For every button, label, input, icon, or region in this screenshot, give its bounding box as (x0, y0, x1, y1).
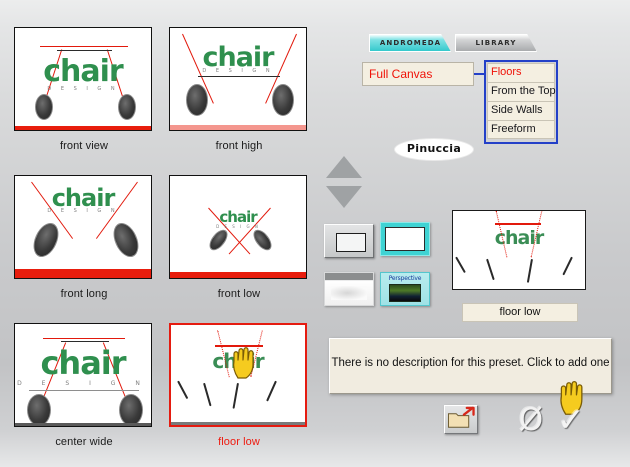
description-panel[interactable]: There is no description for this preset.… (329, 338, 612, 394)
menu-item-side-walls[interactable]: Side Walls (487, 101, 555, 120)
preset-item-front-low[interactable]: chair D E S I G N front low (169, 175, 309, 300)
preset-label: front view (14, 140, 154, 152)
spinner-down-icon[interactable] (326, 186, 362, 208)
menu-item-freeform[interactable]: Freeform (487, 120, 555, 139)
view-mode-perspective[interactable]: Perspective (380, 272, 430, 306)
spinner-up-icon[interactable] (326, 156, 362, 178)
artwork-subhead: D E S I G N (15, 208, 151, 214)
preset-thumbnail[interactable]: chair D E S I G N (14, 175, 152, 279)
perspective-scene: chair D E S I G N (15, 176, 151, 278)
folder-export-icon (445, 406, 477, 433)
artwork-subhead: D E S I G N (170, 224, 306, 229)
description-text: There is no description for this preset.… (330, 357, 611, 369)
preset-item-floor-low[interactable]: chair floor low (169, 323, 309, 448)
preset-label: front low (169, 288, 309, 300)
tab-andromeda[interactable]: ANDROMEDA (369, 34, 451, 52)
perspective-scene: chair (453, 211, 585, 289)
open-folder-button[interactable] (444, 405, 478, 434)
preset-item-front-high[interactable]: chair D E S I G N front high (169, 27, 309, 152)
perspective-scene: chair D E S I G N (170, 176, 306, 278)
frame-icon (385, 227, 425, 251)
perspective-scene: chair (171, 325, 305, 425)
perspective-scene: chair D E S I G N (15, 324, 151, 426)
cancel-button[interactable]: Ø (514, 405, 548, 437)
preset-item-front-view[interactable]: chair D E S I G N front view (14, 27, 154, 152)
confirm-button[interactable]: ✓ (554, 403, 588, 437)
perspective-scene: chair D E S I G N (170, 28, 306, 130)
preset-thumbnail[interactable]: chair D E S I G N (14, 27, 152, 131)
preset-thumbnail-selected[interactable]: chair (169, 323, 307, 427)
preview-caption: floor low (462, 303, 578, 322)
preset-label: front long (14, 288, 154, 300)
preset-item-center-wide[interactable]: chair D E S I G N center wide (14, 323, 154, 448)
preset-label-selected: floor low (169, 436, 309, 448)
view-mode-flat-rectangle[interactable] (324, 224, 374, 258)
page-spinner (326, 156, 362, 210)
image-thumbnail-icon (331, 286, 367, 300)
preset-thumbnail-grid: chair D E S I G N front view chair D E S… (14, 27, 310, 459)
perspective-thumbnail-icon (389, 284, 421, 302)
preset-thumbnail[interactable]: chair D E S I G N (14, 323, 152, 427)
main-preview[interactable]: chair (452, 210, 586, 290)
menu-item-floors[interactable]: Floors (487, 63, 555, 82)
artwork-subhead: D E S I G N (15, 380, 151, 387)
menu-item-from-the-top[interactable]: From the Top (487, 82, 555, 101)
tab-library[interactable]: LIBRARY (455, 34, 537, 52)
artwork-headline: chair (15, 344, 151, 382)
perspective-label: Perspective (381, 275, 429, 282)
preset-thumbnail[interactable]: chair D E S I G N (169, 175, 307, 279)
artwork-subhead: D E S I G N (170, 68, 306, 74)
perspective-scene: chair D E S I G N (15, 28, 151, 130)
category-current-value[interactable]: Full Canvas (362, 62, 474, 86)
preset-thumbnail[interactable]: chair D E S I G N (169, 27, 307, 131)
rectangle-icon (336, 233, 366, 252)
view-mode-full-frame[interactable] (380, 222, 430, 256)
artwork-subhead: D E S I G N (15, 86, 151, 92)
preset-item-front-long[interactable]: chair D E S I G N front long (14, 175, 154, 300)
view-mode-image-preview[interactable] (324, 272, 374, 306)
artwork-headline: chair (171, 349, 305, 373)
preset-label: center wide (14, 436, 154, 448)
artwork-headline: chair (15, 54, 151, 89)
category-menu: Floors From the Top Side Walls Freeform (484, 60, 558, 144)
user-badge: Pinuccia (394, 138, 474, 161)
artwork-headline: chair (453, 227, 585, 249)
preset-label: front high (169, 140, 309, 152)
